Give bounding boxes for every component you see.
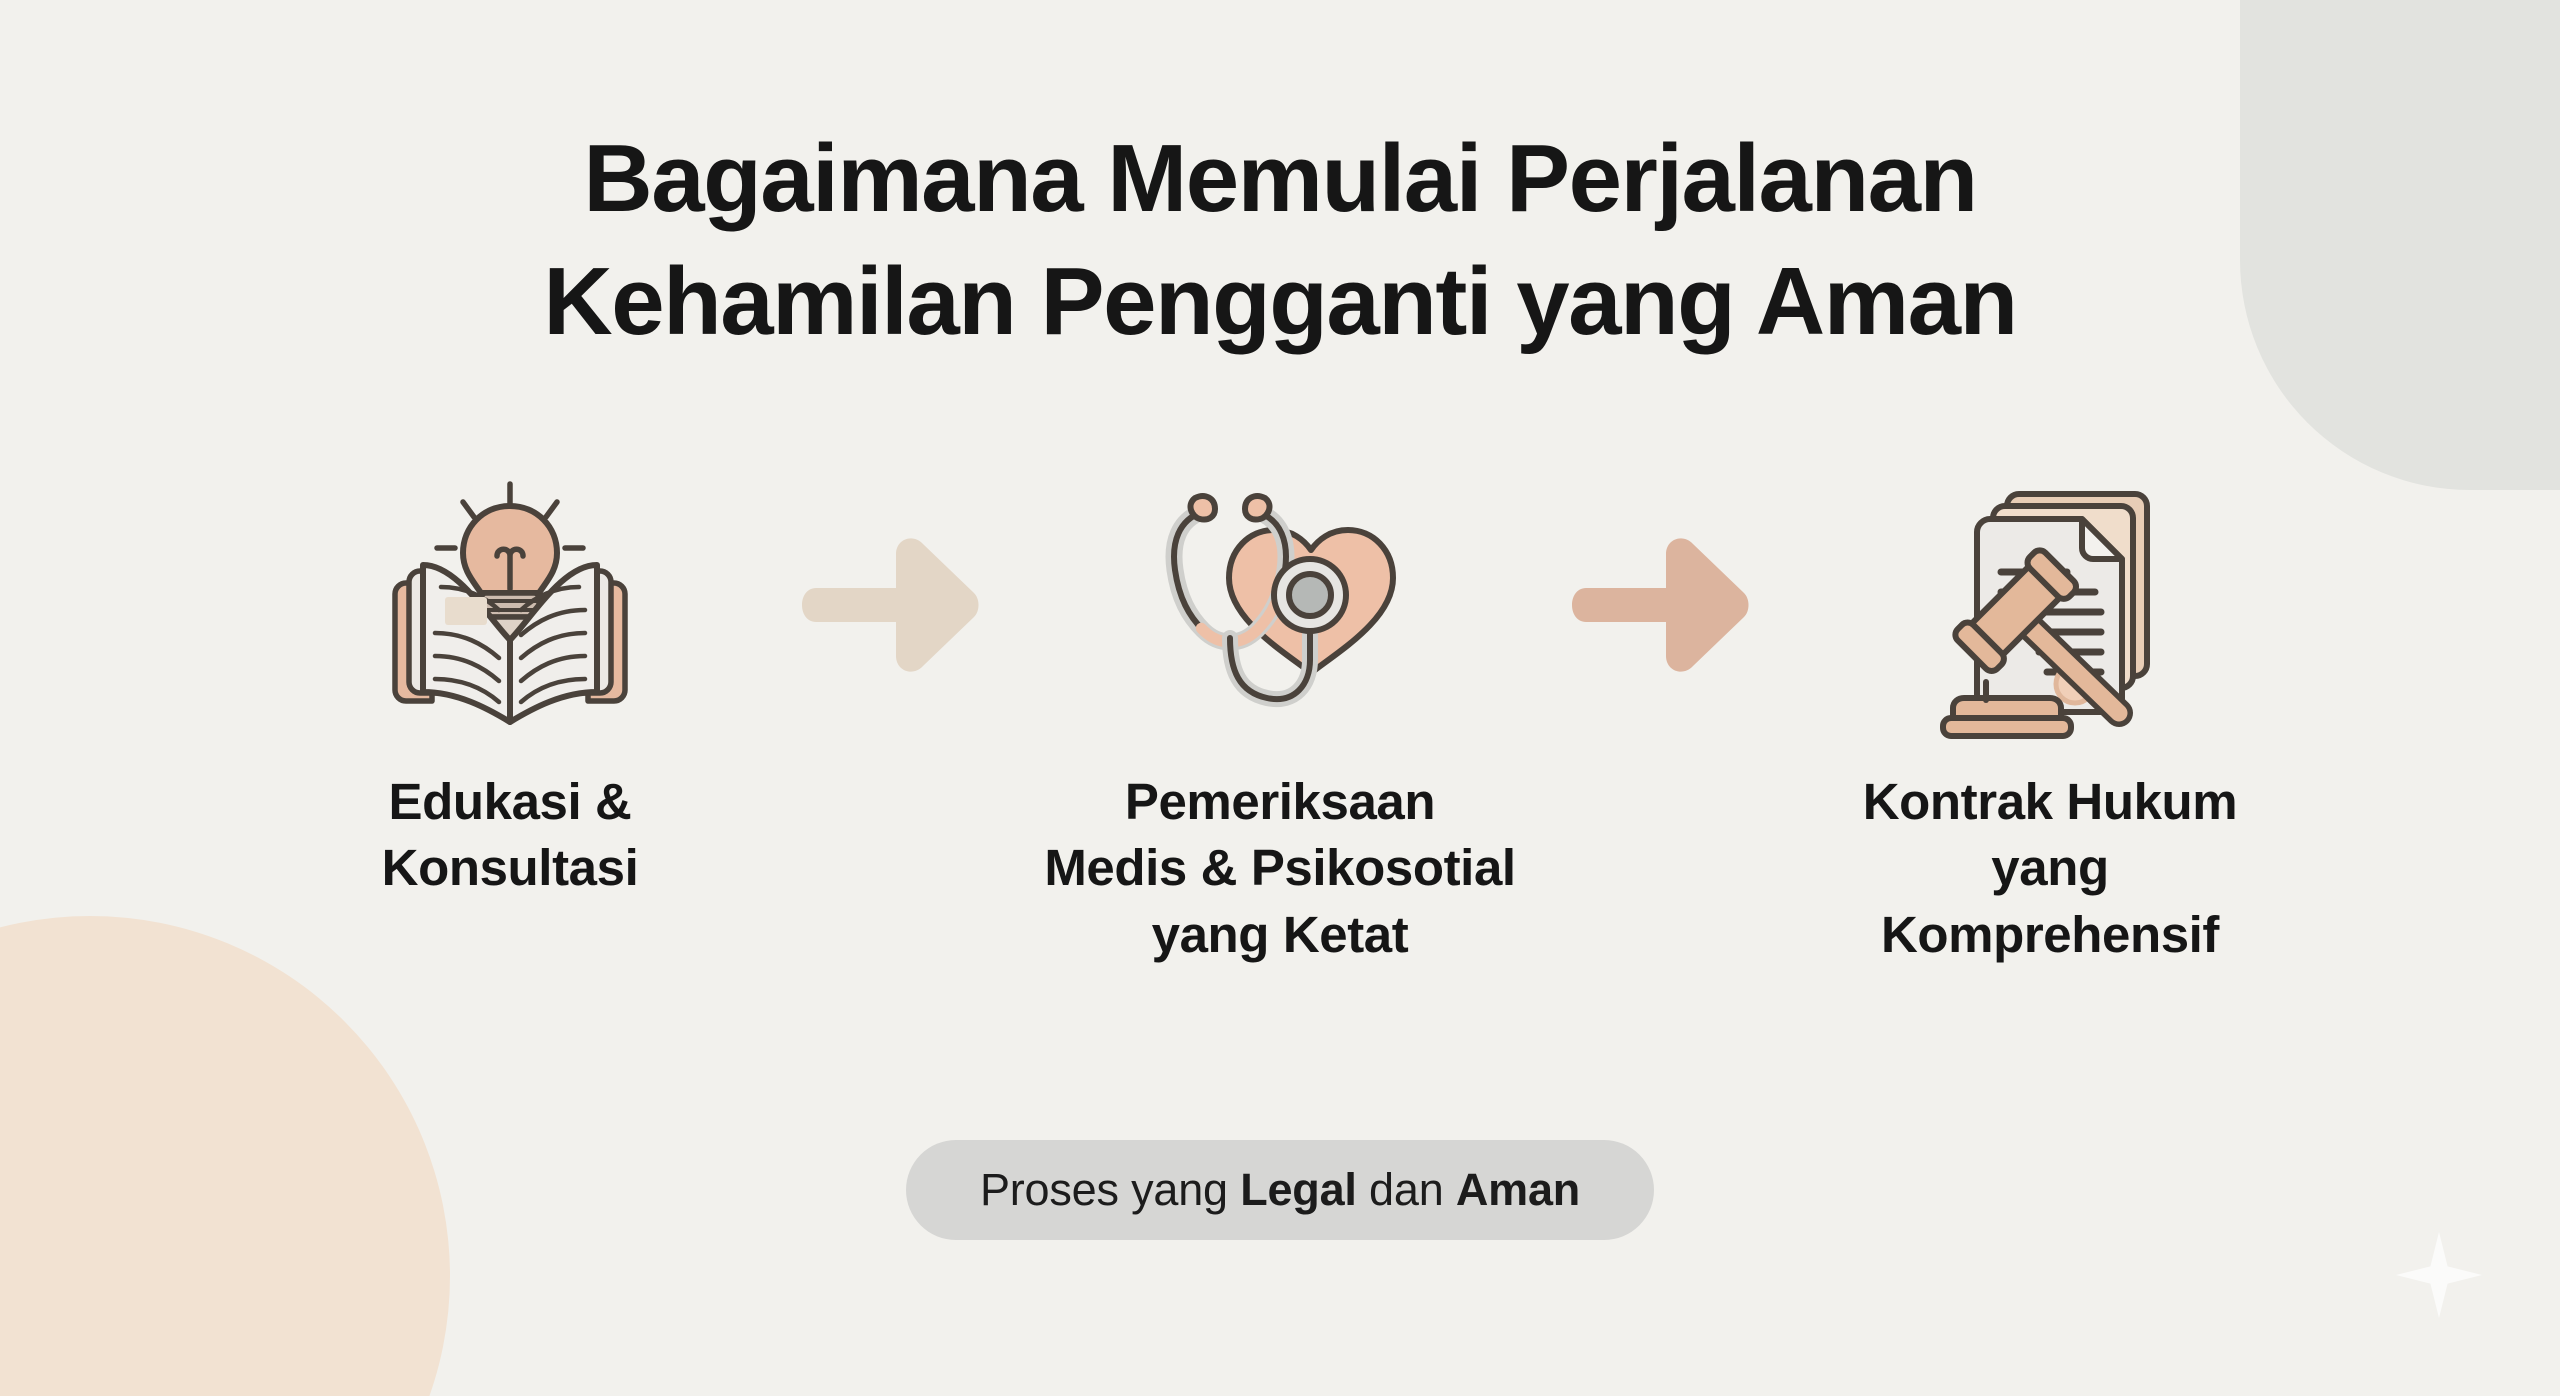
step-label-line: yang: [1863, 835, 2238, 901]
infographic-canvas: Bagaimana Memulai Perjalanan Kehamilan P…: [0, 0, 2560, 1396]
step-label-line: Konsultasi: [382, 835, 639, 901]
arrow-right-icon-1: [770, 455, 1020, 755]
status-badge-middle: dan: [1357, 1164, 1456, 1215]
step-label-education-consultation: Edukasi & Konsultasi: [382, 769, 639, 902]
step-label-line: Pemeriksaan: [1044, 769, 1515, 835]
page-title-line-2: Kehamilan Pengganti yang Aman: [0, 241, 2560, 364]
status-badge-prefix: Proses yang: [980, 1164, 1240, 1215]
step-label-line: Kontrak Hukum: [1863, 769, 2238, 835]
page-title: Bagaimana Memulai Perjalanan Kehamilan P…: [0, 118, 2560, 364]
status-badge: Proses yang Legal dan Aman: [906, 1140, 1654, 1240]
step-medical-psychosocial-screening: Pemeriksaan Medis & Psikosotial yang Ket…: [1020, 455, 1540, 968]
gavel-documents-icon: [1900, 455, 2200, 755]
page-title-line-1: Bagaimana Memulai Perjalanan: [0, 118, 2560, 241]
step-label-legal-contract: Kontrak Hukum yang Komprehensif: [1863, 769, 2238, 968]
book-lightbulb-icon: [360, 455, 660, 755]
status-badge-legal: Legal: [1240, 1164, 1357, 1215]
process-steps: Edukasi & Konsultasi: [0, 455, 2560, 968]
step-education-consultation: Edukasi & Konsultasi: [250, 455, 770, 902]
step-label-line: yang Ketat: [1044, 902, 1515, 968]
step-label-line: Komprehensif: [1863, 902, 2238, 968]
step-label-line: Medis & Psikosotial: [1044, 835, 1515, 901]
step-label-medical-psychosocial-screening: Pemeriksaan Medis & Psikosotial yang Ket…: [1044, 769, 1515, 968]
step-label-line: Edukasi &: [382, 769, 639, 835]
status-badge-aman: Aman: [1456, 1164, 1580, 1215]
sparkle-bottom-right-decoration: [2396, 1232, 2482, 1318]
step-legal-contract: Kontrak Hukum yang Komprehensif: [1790, 455, 2310, 968]
stethoscope-heart-icon: [1130, 455, 1430, 755]
arrow-right-icon-2: [1540, 455, 1790, 755]
status-badge-wrapper: Proses yang Legal dan Aman: [0, 1140, 2560, 1240]
